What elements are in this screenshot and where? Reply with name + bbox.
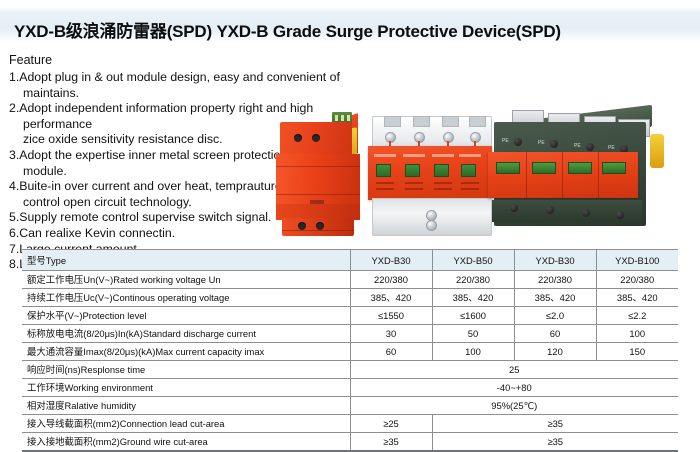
spec-value: ≥35 (432, 433, 678, 452)
spec-value: 50 (432, 325, 514, 343)
table-row: 持续工作电压Uc(V~)Continous operating voltage … (22, 289, 678, 307)
terminal-hole (298, 222, 306, 230)
status-window (602, 162, 626, 174)
table-row: 标称放电电流(8/20μs)In(kA)Standard discharge c… (22, 325, 678, 343)
spec-value: ≥35 (350, 433, 432, 452)
spec-value: 100 (432, 343, 514, 361)
title-band: YXD-B级浪涌防雷器(SPD) YXD-B Grade Surge Prote… (0, 6, 700, 42)
spec-value: ≤1550 (350, 307, 432, 325)
spec-value: 385、420 (596, 289, 678, 307)
single-pole-red-spd-module (274, 110, 370, 238)
status-window (568, 162, 592, 174)
spec-label: 标称放电电流(8/20μs)In(kA)Standard discharge c… (22, 325, 350, 343)
spec-label: 接入导线截面积(mm2)Connection lead cut-area (22, 415, 350, 433)
table-row: 接入接地截面积(mm2)Ground wire cut-area ≥35 ≥35 (22, 433, 678, 452)
terminal-knob (550, 140, 558, 148)
spec-label: 接入接地截面积(mm2)Ground wire cut-area (22, 433, 350, 452)
terminal-hole (312, 134, 320, 142)
spec-value: ≥35 (432, 415, 678, 433)
feature-heading: Feature (9, 52, 359, 68)
table-row: 响应时间(ns)Resplonse time 25 (22, 361, 678, 379)
terminal-knob (546, 206, 554, 214)
red-module-bank (368, 146, 492, 200)
table-row: 相对湿度Ralative humidity 95%(25℃) (22, 397, 678, 415)
spec-value: 25 (350, 361, 678, 379)
spec-value: 220/380 (596, 271, 678, 289)
product-photo-group: PE PE PE PE (262, 100, 700, 245)
page-title: YXD-B级浪涌防雷器(SPD) YXD-B Grade Surge Prote… (14, 17, 561, 42)
module-body (276, 154, 360, 206)
status-window (376, 164, 391, 177)
table-header-model: YXD-B100 (596, 250, 678, 271)
feature-item: 1.Adopt plug in & out module design, eas… (9, 70, 359, 101)
four-pole-white-red-spd-module (368, 112, 496, 238)
yellow-indicator-strip (650, 134, 664, 168)
spec-value: 385、420 (350, 289, 432, 307)
terminal-screw (426, 220, 437, 231)
spec-value: 220/380 (514, 271, 596, 289)
spec-value: 150 (596, 343, 678, 361)
spec-value: 385、420 (514, 289, 596, 307)
red-module-bank (488, 152, 638, 198)
spec-value: -40~+80 (350, 379, 678, 397)
spec-label: 响应时间(ns)Resplonse time (22, 361, 350, 379)
table-header-type: 型号Type (22, 250, 350, 271)
spec-label: 工作环境Working environment (22, 379, 350, 397)
spec-value: 385、420 (432, 289, 514, 307)
status-window (496, 162, 520, 174)
table-header-model: YXD-B30 (350, 250, 432, 271)
spec-value: 30 (350, 325, 432, 343)
terminal-hole (294, 134, 302, 142)
table-header-row: 型号Type YXD-B30 YXD-B50 YXD-B30 YXD-B100 (22, 250, 678, 271)
spec-value: 220/380 (432, 271, 514, 289)
status-window (405, 164, 420, 177)
terminal-knob (616, 211, 624, 219)
spec-label: 相对湿度Ralative humidity (22, 397, 350, 415)
spec-value: ≤1600 (432, 307, 514, 325)
spec-value: 220/380 (350, 271, 432, 289)
terminal-hole (316, 222, 324, 230)
spec-label: 最大通流容量Imax(8/20μs)(kA)Max current capaci… (22, 343, 350, 361)
spec-value: 60 (350, 343, 432, 361)
spec-value: ≥25 (350, 415, 432, 433)
spec-label: 保护水平(V~)Protection level (22, 307, 350, 325)
terminal-knob (586, 143, 594, 151)
terminal-knob (514, 138, 522, 146)
table-header-model: YXD-B50 (432, 250, 514, 271)
spec-value: ≤2.2 (596, 307, 678, 325)
terminal-knob (510, 204, 518, 212)
spec-label: 持续工作电压Uc(V~)Continous operating voltage (22, 289, 350, 307)
spec-value: ≤2.0 (514, 307, 596, 325)
four-pole-dark-green-red-spd-module: PE PE PE PE (488, 108, 658, 240)
spec-value: 95%(25℃) (350, 397, 678, 415)
specification-table: 型号Type YXD-B30 YXD-B50 YXD-B30 YXD-B100 … (22, 249, 678, 452)
table-row: 保护水平(V~)Protection level ≤1550 ≤1600 ≤2.… (22, 307, 678, 325)
table-row: 最大通流容量Imax(8/20μs)(kA)Max current capaci… (22, 343, 678, 361)
table-header-model: YXD-B30 (514, 250, 596, 271)
spec-value: 100 (596, 325, 678, 343)
status-window (434, 164, 449, 177)
status-window (461, 164, 476, 177)
spec-value: 120 (514, 343, 596, 361)
spec-label: 额定工作电压Un(V~)Rated working voltage Un (22, 271, 350, 289)
status-window (532, 162, 556, 174)
spec-value: 60 (514, 325, 596, 343)
table-row: 工作环境Working environment -40~+80 (22, 379, 678, 397)
terminal-knob (582, 209, 590, 217)
table-row: 接入导线截面积(mm2)Connection lead cut-area ≥25… (22, 415, 678, 433)
table-row: 额定工作电压Un(V~)Rated working voltage Un 220… (22, 271, 678, 289)
